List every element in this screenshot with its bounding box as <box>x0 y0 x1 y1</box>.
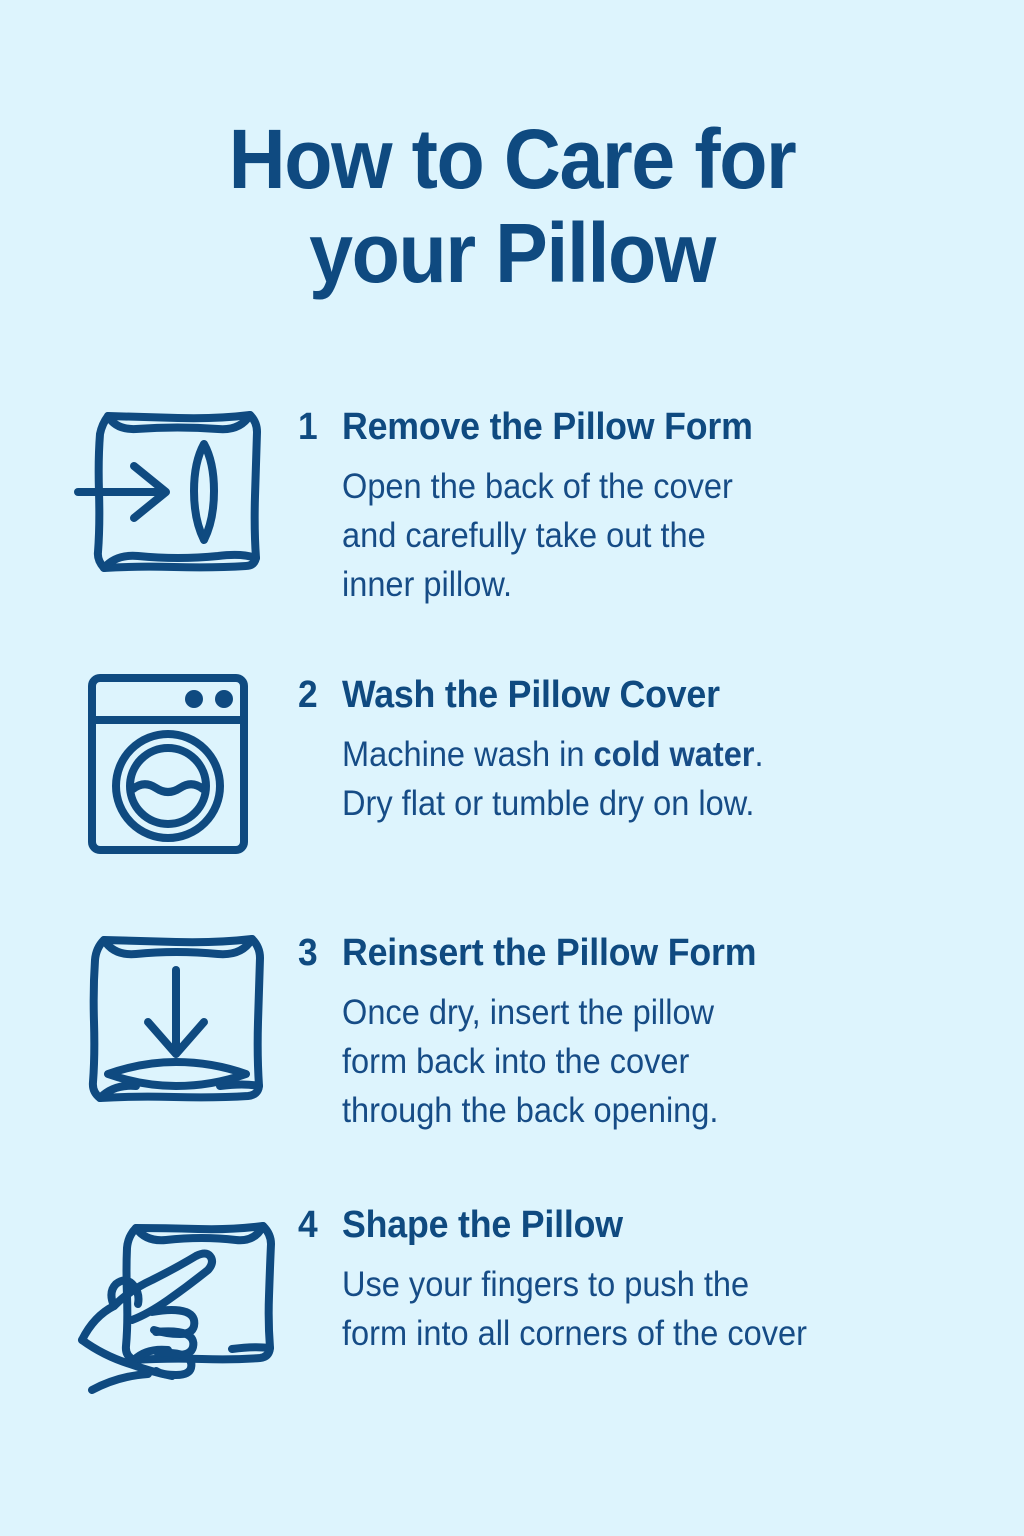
step-4-description: Use your fingers to push the form into a… <box>342 1260 976 1358</box>
step-4-body: Shape the Pillow Use your fingers to pus… <box>342 1202 1024 1358</box>
step-item-1: 1 Remove the Pillow Form Open the back o… <box>0 396 1024 664</box>
step-2-body: Wash the Pillow Cover Machine wash in co… <box>342 672 1024 828</box>
step-2-text-cell: 2 Wash the Pillow Cover Machine wash in … <box>298 664 1024 828</box>
step-3-body: Reinsert the Pillow Form Once dry, inser… <box>342 930 1024 1135</box>
pillow-arrow-in-icon <box>78 400 274 582</box>
step-1-desc-line-2: and carefully take out the <box>342 511 976 560</box>
step-2-desc-line-2: Dry flat or tumble dry on low. <box>342 779 976 828</box>
step-3-desc-line-1: Once dry, insert the pillow <box>342 988 976 1037</box>
step-item-4: 4 Shape the Pillow Use your fingers to p… <box>0 1194 1024 1404</box>
step-3-text-cell: 3 Reinsert the Pillow Form Once dry, ins… <box>298 922 1024 1135</box>
step-3-desc-line-2: form back into the cover <box>342 1037 976 1086</box>
step-1-description: Open the back of the cover and carefully… <box>342 462 976 609</box>
step-1-text-cell: 1 Remove the Pillow Form Open the back o… <box>298 396 1024 609</box>
step-2-desc-line-1-tail: . <box>754 735 763 774</box>
washer-dial-dot-1 <box>185 690 203 708</box>
step-4-heading: Shape the Pillow <box>342 1202 983 1248</box>
step-item-3: 3 Reinsert the Pillow Form Once dry, ins… <box>0 922 1024 1194</box>
step-1-body: Remove the Pillow Form Open the back of … <box>342 404 1024 609</box>
step-4-icon-cell <box>78 1194 298 1396</box>
step-3-description: Once dry, insert the pillow form back in… <box>342 988 976 1135</box>
step-3-number: 3 <box>298 930 339 976</box>
infographic-page: How to Care for your Pillow <box>0 0 1024 1536</box>
step-1-icon-cell <box>78 396 298 582</box>
step-2-heading: Wash the Pillow Cover <box>342 672 983 718</box>
washer-dial-dot-2 <box>215 690 233 708</box>
page-title-line-1: How to Care for <box>87 112 937 206</box>
washing-machine-icon <box>78 668 258 862</box>
step-4-desc-line-2: form into all corners of the cover <box>342 1309 976 1358</box>
pillow-arrow-down-icon <box>78 926 274 1112</box>
page-title-line-2: your Pillow <box>87 206 937 300</box>
step-1-number: 1 <box>298 404 339 450</box>
step-2-desc-line-1-lead: Machine wash in <box>342 735 593 774</box>
page-title: How to Care for your Pillow <box>0 112 1024 300</box>
steps-list: 1 Remove the Pillow Form Open the back o… <box>0 396 1024 1404</box>
step-1-heading: Remove the Pillow Form <box>342 404 983 450</box>
hand-shaping-pillow-icon <box>56 1206 286 1396</box>
step-4-text-cell: 4 Shape the Pillow Use your fingers to p… <box>298 1194 1024 1358</box>
step-1-desc-line-3: inner pillow. <box>342 560 976 609</box>
step-2-desc-line-1: Machine wash in cold water. <box>342 730 976 779</box>
step-2-desc-emphasis: cold water <box>593 735 754 774</box>
step-2-number: 2 <box>298 672 339 718</box>
step-2-description: Machine wash in cold water. Dry flat or … <box>342 730 976 828</box>
step-3-icon-cell <box>78 922 298 1112</box>
step-item-2: 2 Wash the Pillow Cover Machine wash in … <box>0 664 1024 922</box>
step-1-desc-line-1: Open the back of the cover <box>342 462 976 511</box>
step-3-desc-line-3: through the back opening. <box>342 1086 976 1135</box>
step-4-number: 4 <box>298 1202 339 1248</box>
step-2-icon-cell <box>78 664 298 862</box>
step-3-heading: Reinsert the Pillow Form <box>342 930 983 976</box>
step-4-desc-line-1: Use your fingers to push the <box>342 1260 976 1309</box>
